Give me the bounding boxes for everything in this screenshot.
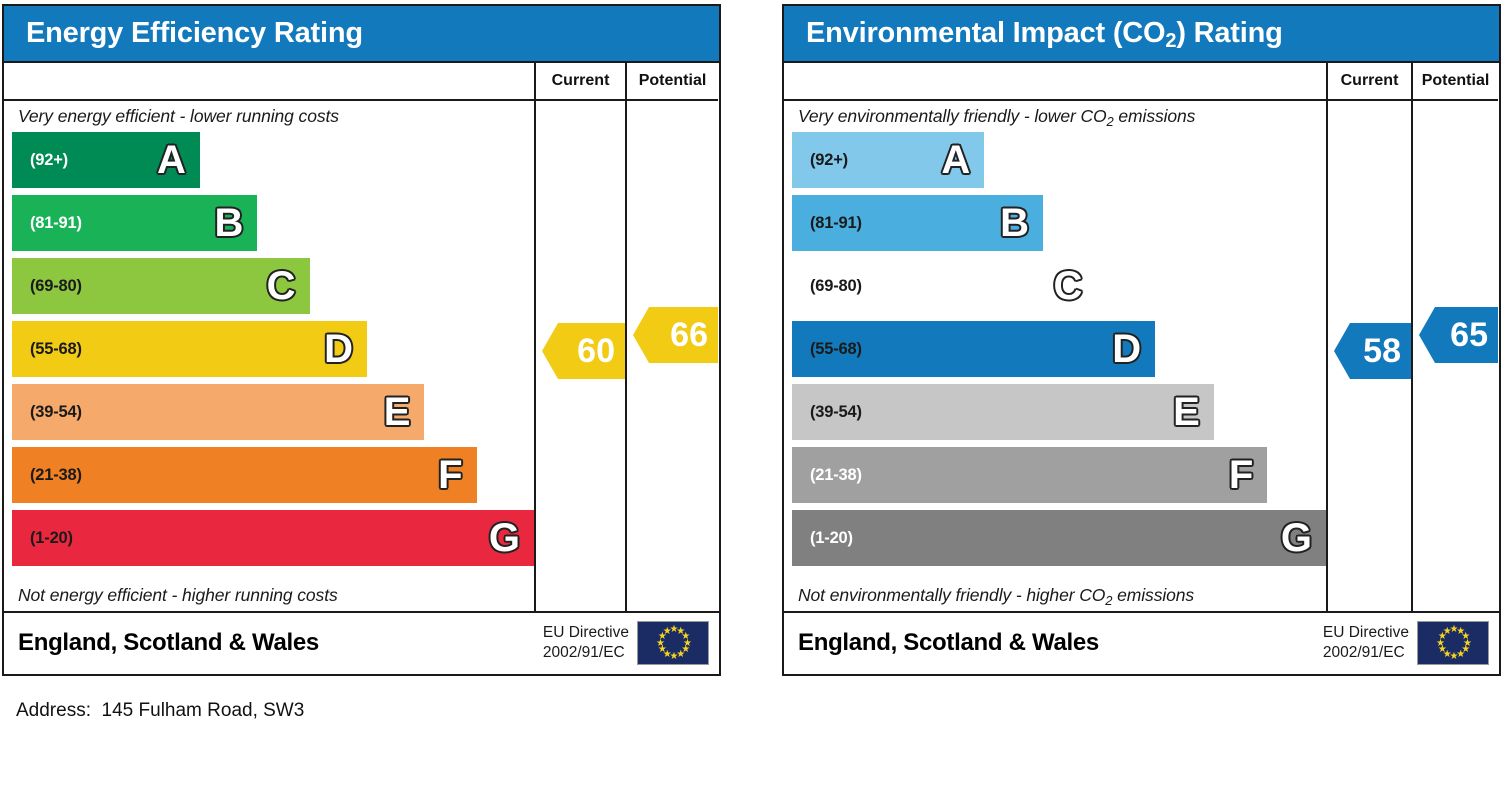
environmental-band-e: (39-54)E [792, 384, 1214, 440]
environmental-potential-column: Potential 65 [1413, 63, 1498, 611]
energy-band-letter-c: C [267, 266, 296, 306]
energy-chart-footer: England, Scotland & Wales EU Directive 2… [4, 611, 719, 672]
environmental-potential-value: 65 [1450, 316, 1488, 355]
energy-band-letter-a: A [157, 140, 186, 180]
environmental-eu-line2: 2002/91/EC [1323, 643, 1409, 662]
energy-chart-header: Energy Efficiency Rating [4, 6, 719, 63]
environmental-band-d: (55-68)D [792, 321, 1155, 377]
environmental-bottom-caption-suffix: emissions [1112, 585, 1194, 605]
environmental-band-range-e: (39-54) [810, 403, 862, 422]
environmental-band-letter-c: C [1053, 266, 1082, 306]
environmental-current-header: Current [1328, 63, 1411, 101]
environmental-band-letter-g: G [1281, 518, 1312, 558]
energy-band-range-b: (81-91) [30, 214, 82, 233]
energy-potential-value-marker: 66 [633, 307, 718, 363]
environmental-title-sub: 2 [1165, 30, 1176, 52]
environmental-potential-body: 65 [1413, 101, 1498, 611]
environmental-potential-header: Potential [1413, 63, 1498, 101]
environmental-band-range-c: (69-80) [810, 277, 862, 296]
energy-band-a: (92+)A [12, 132, 200, 188]
energy-current-column: Current 60 [536, 63, 627, 611]
environmental-chart-footer: England, Scotland & Wales EU Directive 2… [784, 611, 1499, 672]
epc-page: Energy Efficiency Rating Very energy eff… [0, 0, 1501, 805]
environmental-band-letter-e: E [1173, 392, 1200, 432]
environmental-band-range-d: (55-68) [810, 340, 862, 359]
environmental-band-list: (92+)A(81-91)B(69-80)C(55-68)D(39-54)E(2… [784, 132, 1326, 580]
energy-band-d: (55-68)D [12, 321, 367, 377]
eu-flag-icon [637, 621, 709, 665]
energy-band-c: (69-80)C [12, 258, 310, 314]
environmental-band-range-f: (21-38) [810, 466, 862, 485]
environmental-band-g: (1-20)G [792, 510, 1326, 566]
energy-band-e: (39-54)E [12, 384, 424, 440]
energy-current-value: 60 [577, 332, 615, 371]
environmental-eu-directive: EU Directive 2002/91/EC [1323, 621, 1489, 665]
environmental-bands-header-cell [784, 63, 1326, 101]
environmental-band-letter-d: D [1112, 329, 1141, 369]
environmental-band-range-g: (1-20) [810, 529, 853, 548]
environmental-title-suffix: ) Rating [1176, 17, 1282, 49]
environmental-chart-title: Environmental Impact (CO2) Rating [806, 17, 1283, 50]
environmental-top-caption-sub: 2 [1107, 114, 1114, 129]
environmental-bottom-caption-sub: 2 [1105, 593, 1112, 608]
energy-band-range-a: (92+) [30, 151, 68, 170]
energy-band-range-e: (39-54) [30, 403, 82, 422]
environmental-bottom-caption-prefix: Not environmentally friendly - higher CO [798, 585, 1105, 605]
energy-band-letter-d: D [324, 329, 353, 369]
energy-band-list: (92+)A(81-91)B(69-80)C(55-68)D(39-54)E(2… [4, 132, 534, 580]
energy-bands-header-cell [4, 63, 534, 101]
energy-band-range-f: (21-38) [30, 466, 82, 485]
environmental-band-range-a: (92+) [810, 151, 848, 170]
energy-band-b: (81-91)B [12, 195, 257, 251]
environmental-current-column: Current 58 [1328, 63, 1413, 611]
environmental-band-b: (81-91)B [792, 195, 1043, 251]
energy-eu-directive: EU Directive 2002/91/EC [543, 621, 709, 665]
environmental-eu-line1: EU Directive [1323, 623, 1409, 642]
environmental-chart-body: Very environmentally friendly - lower CO… [784, 63, 1499, 611]
energy-potential-header: Potential [627, 63, 718, 101]
energy-chart-body: Very energy efficient - lower running co… [4, 63, 719, 611]
energy-current-body: 60 [536, 101, 625, 611]
energy-band-g: (1-20)G [12, 510, 534, 566]
energy-current-header: Current [536, 63, 625, 101]
eu-flag-icon [1417, 621, 1489, 665]
property-address: Address: 145 Fulham Road, SW3 [16, 700, 304, 722]
environmental-current-value: 58 [1363, 332, 1401, 371]
environmental-band-range-b: (81-91) [810, 214, 862, 233]
environmental-band-letter-b: B [1000, 203, 1029, 243]
energy-band-range-d: (55-68) [30, 340, 82, 359]
energy-region-label: England, Scotland & Wales [18, 629, 319, 657]
energy-band-letter-e: E [384, 392, 411, 432]
environmental-bands-column: Very environmentally friendly - lower CO… [784, 63, 1328, 611]
energy-band-letter-g: G [489, 518, 520, 558]
environmental-top-caption-prefix: Very environmentally friendly - lower CO [798, 106, 1107, 126]
energy-efficiency-chart: Energy Efficiency Rating Very energy eff… [2, 4, 721, 676]
energy-top-caption: Very energy efficient - lower running co… [4, 101, 534, 132]
environmental-band-a: (92+)A [792, 132, 984, 188]
environmental-band-c: (69-80)C [792, 258, 1096, 314]
environmental-bottom-caption: Not environmentally friendly - higher CO… [784, 580, 1326, 611]
energy-eu-line2: 2002/91/EC [543, 643, 629, 662]
environmental-band-letter-f: F [1229, 455, 1253, 495]
environmental-top-caption: Very environmentally friendly - lower CO… [784, 101, 1326, 132]
energy-potential-value: 66 [670, 316, 708, 355]
environmental-title-prefix: Environmental Impact (CO [806, 17, 1165, 49]
environmental-top-caption-suffix: emissions [1114, 106, 1196, 126]
environmental-current-body: 58 [1328, 101, 1411, 611]
environmental-region-label: England, Scotland & Wales [798, 629, 1099, 657]
energy-current-value-marker: 60 [542, 323, 625, 379]
energy-chart-title: Energy Efficiency Rating [26, 17, 363, 50]
environmental-impact-chart: Environmental Impact (CO2) Rating Very e… [782, 4, 1501, 676]
environmental-chart-header: Environmental Impact (CO2) Rating [784, 6, 1499, 63]
energy-potential-column: Potential 66 [627, 63, 718, 611]
energy-eu-text: EU Directive 2002/91/EC [543, 623, 629, 662]
energy-band-letter-f: F [438, 455, 462, 495]
energy-band-range-c: (69-80) [30, 277, 82, 296]
environmental-band-f: (21-38)F [792, 447, 1267, 503]
environmental-potential-value-marker: 65 [1419, 307, 1498, 363]
environmental-eu-text: EU Directive 2002/91/EC [1323, 623, 1409, 662]
energy-potential-body: 66 [627, 101, 718, 611]
environmental-current-value-marker: 58 [1334, 323, 1411, 379]
energy-band-range-g: (1-20) [30, 529, 73, 548]
energy-band-f: (21-38)F [12, 447, 477, 503]
energy-eu-line1: EU Directive [543, 623, 629, 642]
energy-band-letter-b: B [214, 203, 243, 243]
energy-bottom-caption: Not energy efficient - higher running co… [4, 580, 534, 611]
environmental-band-letter-a: A [941, 140, 970, 180]
energy-bands-column: Very energy efficient - lower running co… [4, 63, 536, 611]
